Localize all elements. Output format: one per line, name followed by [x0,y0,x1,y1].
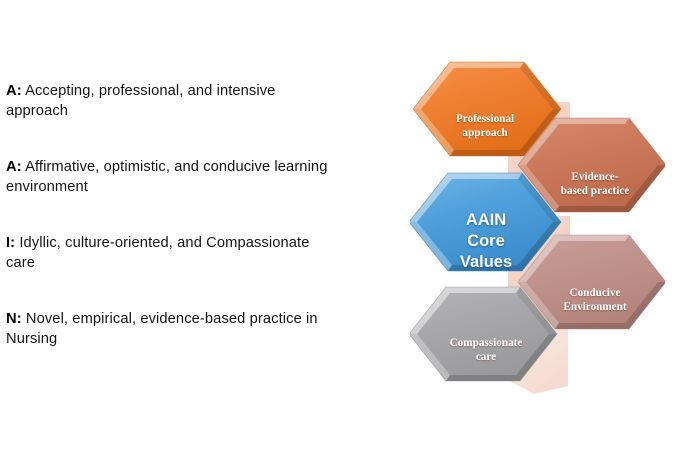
list-item: A: Accepting, professional, and intensiv… [6,81,336,121]
list-item: I: Idyllic, culture-oriented, and Compas… [6,233,336,273]
list-item-key: A: [6,159,22,175]
list-item-text: Idyllic, culture-oriented, and Compassio… [6,235,310,271]
list-item-key: A: [6,83,22,99]
list-item-key: I: [6,235,15,251]
list-item-text: Novel, empirical, evidence-based practic… [6,311,318,347]
core-values-hexagon-diagram: Professional approach Evidence- based pr… [410,50,665,395]
list-item-key: N: [6,311,22,327]
core-values-text-list: A: Accepting, professional, and intensiv… [6,66,336,349]
list-item: N: Novel, empirical, evidence-based prac… [6,309,336,349]
list-item: A: Affirmative, optimistic, and conduciv… [6,157,336,197]
list-item-text: Affirmative, optimistic, and conducive l… [6,159,327,195]
list-item-text: Accepting, professional, and intensive a… [6,83,275,119]
hexagon-shapes [410,50,665,395]
